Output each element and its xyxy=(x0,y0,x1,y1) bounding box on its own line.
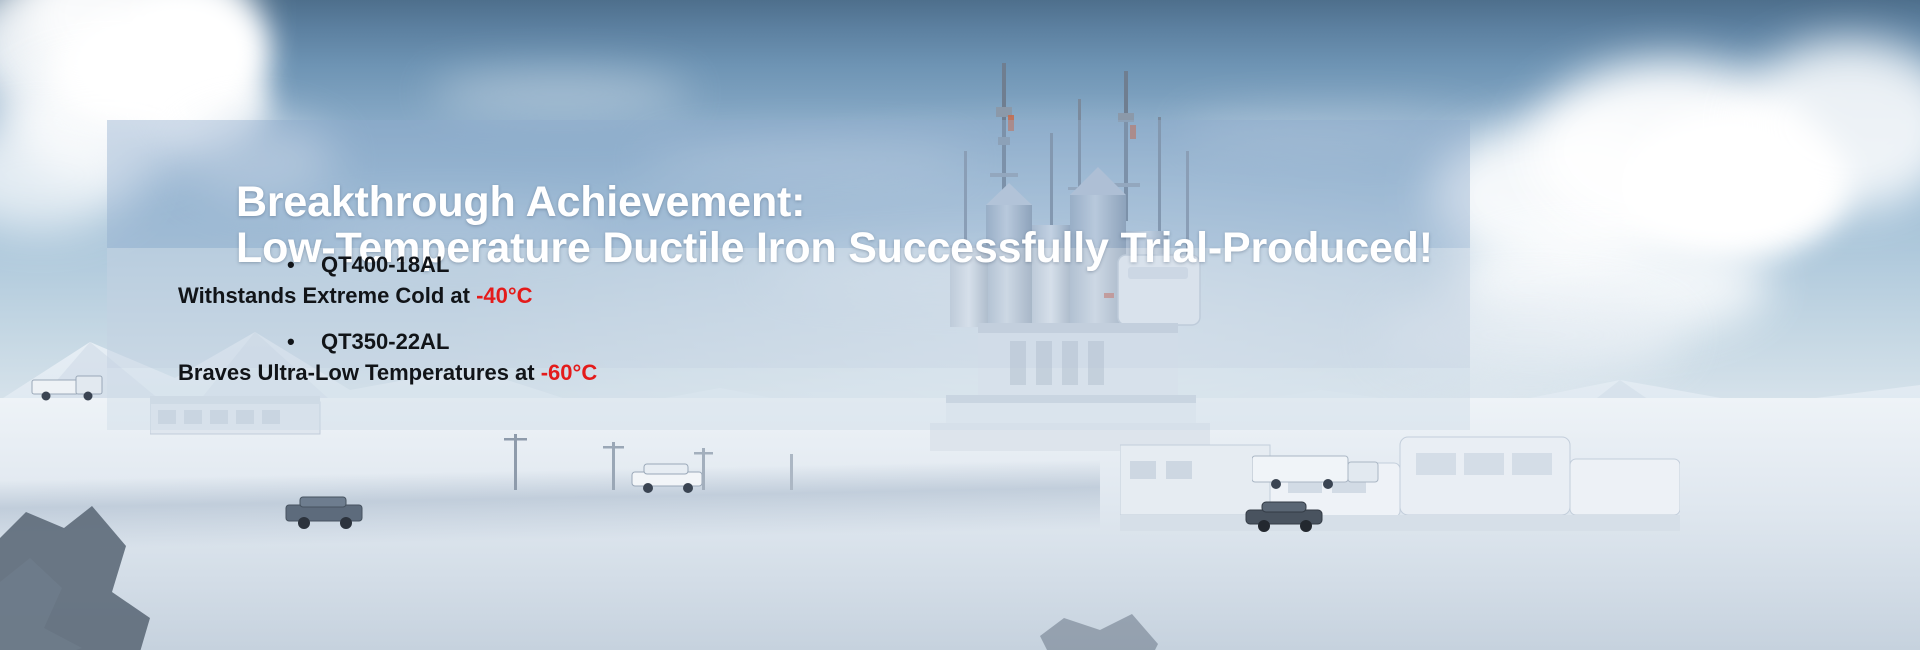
content-overlay-panel: Breakthrough Achievement: Low-Temperatur… xyxy=(107,120,1470,430)
bullet-dot-icon: • xyxy=(287,329,321,355)
foreground-rocks xyxy=(0,442,180,650)
spec-code-row: • QT400-18AL xyxy=(107,252,1470,278)
list-item: • QT350-22AL Braves Ultra-Low Temperatur… xyxy=(107,329,1470,386)
material-grade-label: QT400-18AL xyxy=(321,252,449,278)
vehicle-trailer-right xyxy=(1252,452,1382,492)
bullet-dot-icon: • xyxy=(287,252,321,278)
secondary-plant xyxy=(1120,415,1680,585)
vehicle-sedan-right xyxy=(1242,500,1328,534)
foreground-rock-right xyxy=(1040,596,1160,650)
title-line-1: Breakthrough Achievement: xyxy=(236,178,805,226)
material-grade-label: QT350-22AL xyxy=(321,329,449,355)
spec-description-text: Braves Ultra-Low Temperatures at xyxy=(178,360,541,385)
vehicle-truck-far-left xyxy=(30,372,106,402)
temperature-value: -60°C xyxy=(541,360,597,385)
spec-description: Braves Ultra-Low Temperatures at -60°C xyxy=(107,360,1470,386)
spec-code-row: • QT350-22AL xyxy=(107,329,1470,355)
spec-description-text: Withstands Extreme Cold at xyxy=(178,283,476,308)
spec-list: • QT400-18AL Withstands Extreme Cold at … xyxy=(107,252,1470,386)
list-item: • QT400-18AL Withstands Extreme Cold at … xyxy=(107,252,1470,309)
temperature-value: -40°C xyxy=(476,283,532,308)
spec-description: Withstands Extreme Cold at -40°C xyxy=(107,283,1470,309)
banner-image: Breakthrough Achievement: Low-Temperatur… xyxy=(0,0,1920,650)
utility-poles xyxy=(490,428,830,498)
vehicle-suv-left xyxy=(282,495,368,531)
